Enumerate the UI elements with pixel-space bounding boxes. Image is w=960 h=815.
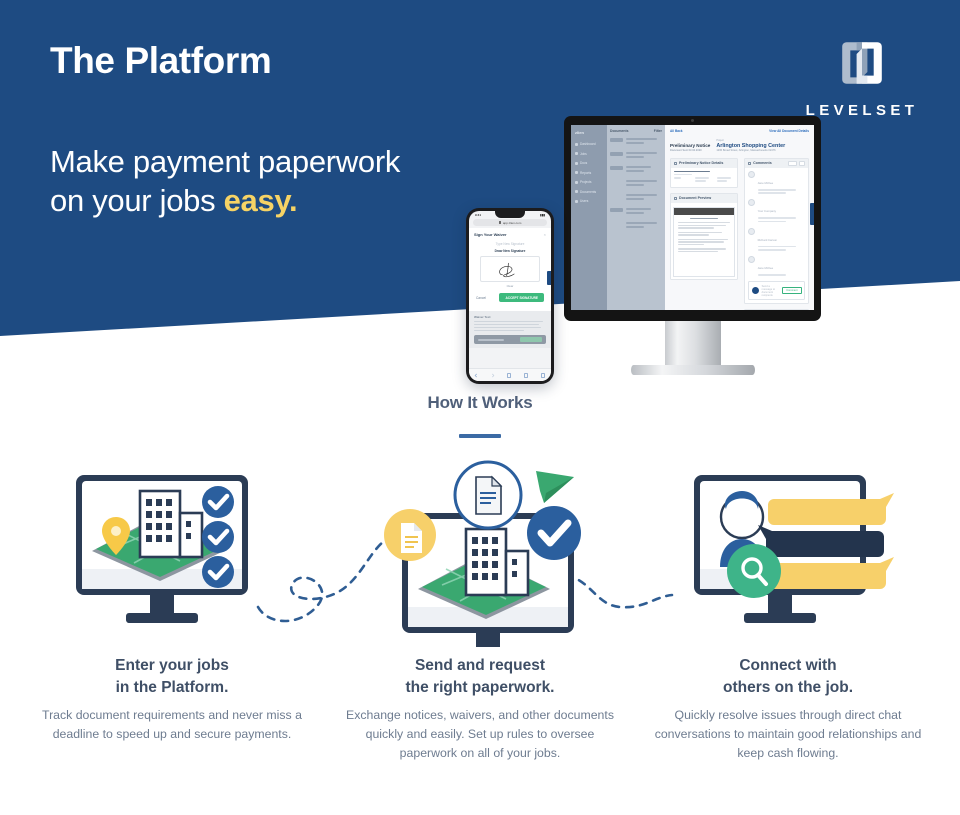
browser-toolbar (469, 368, 551, 381)
list-item[interactable] (610, 166, 662, 173)
check-icon (202, 521, 234, 553)
jobs-icon (575, 152, 578, 155)
filter-button[interactable] (788, 161, 797, 166)
signature-sheet: Sign Your Waiver × Type New Signature Dr… (469, 228, 551, 311)
share-icon[interactable] (507, 373, 511, 378)
step-heading-line1: Send and request (415, 657, 545, 674)
list-header-left: Documents (610, 129, 628, 133)
comment-body-line (758, 246, 796, 248)
step-body: Exchange notices, waivers, and other doc… (330, 706, 630, 763)
comment-input-row[interactable]: Send a message to document recipients Co… (748, 281, 805, 300)
sidebar-item-label: Jobs (580, 152, 587, 156)
preview-line (678, 241, 724, 242)
detail-line (674, 171, 710, 173)
status-badge (610, 138, 623, 142)
comment-author: Richard Carson (758, 238, 777, 242)
illustration-send-request (368, 455, 608, 650)
document-header: Preliminary Notice Document Sent 03.04.2… (670, 139, 809, 152)
status-badge (610, 166, 623, 170)
sidebar-item-label: Projects (580, 180, 592, 184)
document-preview-card: Document Preview (670, 193, 738, 280)
comment-author: Your Company (758, 209, 776, 213)
detail-keyvalue (674, 177, 734, 183)
device-mockups: zlien Dashboard Jobs Docs (452, 108, 852, 398)
main-panels: Preliminary Notice Details (670, 158, 809, 311)
card-title: Preliminary Notice Details (679, 161, 723, 165)
sidebar-item-dashboard[interactable]: Dashboard (575, 142, 603, 146)
accept-signature-button[interactable]: ACCEPT SIGNATURE (499, 293, 544, 302)
comment-body-line (758, 274, 786, 276)
status-badge (610, 194, 623, 198)
sidebar-item-label: Reports (580, 171, 591, 175)
status-badge (610, 152, 623, 156)
waiver-text-block: Waiver Text (469, 311, 551, 348)
hero-subtitle-line2: on your jobs (50, 183, 224, 218)
step-heading-line2: in the Platform. (116, 679, 229, 696)
waiver-footer-button[interactable] (520, 337, 542, 342)
check-icon (202, 556, 234, 588)
status-icons: ▮▮▮ (540, 213, 545, 217)
card-header: Comments (745, 159, 808, 169)
how-it-works-section: How It Works (0, 393, 960, 438)
sidebar-item-reports[interactable]: Reports (575, 171, 603, 175)
left-column: Preliminary Notice Details (670, 158, 738, 311)
card-title: Comments (753, 161, 772, 165)
sidebar-item-documents[interactable]: Documents (575, 190, 603, 194)
comment-entry: Richard Carson (748, 228, 805, 252)
step-heading-line2: others on the job. (723, 679, 853, 696)
desktop-monitor-mockup: zlien Dashboard Jobs Docs (564, 116, 821, 321)
preview-header-bar (674, 208, 734, 215)
brand-wordmark: LEVELSET (802, 102, 922, 119)
view-details-link[interactable]: View All Document Details (769, 129, 809, 133)
status-time: 9:41 (475, 213, 481, 217)
waiver-line (474, 330, 524, 331)
main-topbar: All Back View All Document Details (670, 129, 809, 133)
list-header-right[interactable]: Filter (654, 129, 662, 133)
comment-input[interactable]: Send a message to document recipients (762, 285, 780, 297)
step-body: Quickly resolve issues through direct ch… (638, 706, 938, 763)
list-item[interactable] (610, 138, 662, 145)
sidebar-item-users[interactable]: Users (575, 199, 603, 203)
back-icon[interactable] (475, 373, 479, 377)
cancel-button[interactable]: Cancel (476, 296, 486, 300)
lock-icon (499, 221, 501, 224)
card-body (671, 168, 737, 187)
comment-entry: Jane McKee (748, 171, 805, 195)
monitor-documents-send-icon (368, 455, 608, 650)
waiver-footer-label (478, 339, 504, 341)
close-icon[interactable]: × (544, 232, 546, 237)
check-icon (202, 486, 234, 518)
monitor-bezel: zlien Dashboard Jobs Docs (564, 116, 821, 321)
steps-section: Enter your jobs in the Platform. Track d… (0, 455, 960, 795)
monitor-screen: zlien Dashboard Jobs Docs (571, 125, 814, 310)
signature-canvas[interactable] (480, 256, 540, 282)
detail-value (717, 177, 731, 179)
app-sidebar: zlien Dashboard Jobs Docs (571, 125, 607, 310)
status-badge (610, 180, 623, 184)
preview-line (678, 225, 726, 226)
comment-author: Jane McKee (758, 181, 774, 185)
docs-icon (575, 162, 578, 165)
search-icon (727, 544, 781, 598)
tab-draw-signature[interactable]: Draw New Signature (474, 249, 546, 253)
preview-line (678, 234, 709, 235)
comment-body-line (758, 221, 786, 223)
step-heading: Connect with others on the job. (638, 655, 938, 700)
illustration-connect (676, 455, 916, 650)
right-column: Comments (744, 158, 809, 311)
comment-body-line (758, 217, 796, 219)
monitor-chat-person-icon (676, 455, 916, 650)
project-address: 1295 Broad Street, Arlington, Massachuse… (716, 149, 785, 152)
detail-value (695, 177, 709, 179)
comment-body-line (758, 192, 786, 194)
list-item[interactable] (610, 152, 662, 159)
avatar (748, 171, 755, 178)
sidebar-item-docs[interactable]: Docs (575, 161, 603, 165)
users-icon (575, 200, 578, 203)
comments-card: Comments (744, 158, 809, 305)
back-link[interactable]: All Back (670, 129, 683, 133)
expand-button[interactable] (799, 161, 805, 166)
document-type-label: Preliminary Notice (670, 143, 710, 148)
marketing-slide: The Platform Make payment paperwork on y… (0, 0, 960, 815)
title-underline (459, 434, 501, 438)
comment-body-line (758, 249, 786, 251)
list-item[interactable] (610, 208, 662, 215)
preview-line (678, 232, 722, 233)
document-badge-icon (384, 509, 436, 561)
phone-screen: 9:41 ▮▮▮ app.zlien.com Sign Your Waiver … (469, 211, 551, 381)
projects-icon (575, 181, 578, 184)
step-body: Track document requirements and never mi… (22, 706, 322, 744)
phone-body: 9:41 ▮▮▮ app.zlien.com Sign Your Waiver … (466, 208, 554, 384)
document-outline-icon (455, 462, 521, 528)
levelset-logo-mark-icon (835, 36, 889, 90)
comment-author: Jane McKee (758, 266, 774, 270)
hero-subtitle-accent: easy. (224, 183, 298, 218)
recipients-card: Recipients Add Recipient Property Owner … (744, 309, 809, 310)
sidebar-item-label: Docs (580, 161, 587, 165)
step-card-send-request: Send and request the right paperwork. Ex… (330, 655, 630, 763)
card-header: Document Preview (671, 194, 737, 203)
step-heading-line2: the right paperwork. (406, 679, 555, 696)
url-text: app.zlien.com (503, 221, 522, 225)
browser-url-bar[interactable]: app.zlien.com (473, 219, 547, 226)
waiver-line (474, 321, 543, 322)
app-document-list: Documents Filter (607, 125, 665, 310)
project-block: Project Arlington Shopping Center 1295 B… (716, 139, 785, 152)
sidebar-item-label: Users (580, 199, 588, 203)
comment-entry: Your Company (748, 199, 805, 223)
monitor-base (631, 365, 755, 375)
waiver-line (474, 324, 539, 325)
notice-details-card: Preliminary Notice Details (670, 158, 738, 188)
preview-line (690, 218, 719, 220)
avatar (748, 199, 755, 206)
preview-line (678, 222, 730, 223)
monitor-map-checkmarks-icon (60, 455, 300, 650)
sheet-title: Sign Your Waiver (474, 232, 507, 237)
hero-subtitle: Make payment paperwork on your jobs easy… (50, 143, 400, 221)
list-item[interactable] (610, 180, 662, 187)
page-title: The Platform (50, 40, 271, 82)
monitor-stand (665, 321, 721, 369)
tabs-icon[interactable] (541, 373, 545, 378)
preview-line (678, 251, 718, 252)
card-title: Document Preview (679, 196, 711, 200)
comment-entry: Jane McKee (748, 256, 805, 277)
detail-value (717, 180, 727, 182)
sheet-header: Sign Your Waiver × (474, 232, 546, 237)
clear-signature-button[interactable]: Clear (474, 284, 546, 288)
reports-icon (575, 171, 578, 174)
step-heading: Send and request the right paperwork. (330, 655, 630, 700)
step-heading-line1: Connect with (739, 657, 836, 674)
documents-icon (575, 190, 578, 193)
sidebar-item-jobs[interactable]: Jobs (575, 152, 603, 156)
list-item[interactable] (610, 194, 662, 201)
waiver-footer-bar[interactable] (474, 335, 546, 344)
document-preview-pane[interactable] (673, 207, 735, 277)
document-sent-date: Document Sent 03.04.2020 (670, 149, 710, 152)
feedback-tab[interactable] (810, 203, 814, 225)
detail-key (674, 177, 681, 179)
preview-line (678, 239, 728, 240)
detail-line (674, 174, 692, 176)
comment-body-line (758, 189, 796, 191)
preview-icon (674, 197, 677, 200)
step-card-connect: Connect with others on the job. Quickly … (638, 655, 938, 763)
signature-actions: Cancel ACCEPT SIGNATURE (474, 293, 546, 307)
card-header: Preliminary Notice Details (671, 159, 737, 168)
preview-line (678, 244, 704, 245)
waiver-line (474, 327, 541, 328)
waiver-text-title: Waiver Text (474, 315, 546, 319)
brand-logo: LEVELSET (802, 36, 922, 119)
document-list-header: Documents Filter (610, 129, 662, 133)
forward-icon[interactable] (491, 373, 495, 377)
project-name-text: Arlington Shopping Center (716, 143, 785, 149)
step-heading: Enter your jobs in the Platform. (22, 655, 322, 700)
status-badge (610, 208, 623, 212)
sidebar-item-projects[interactable]: Projects (575, 180, 603, 184)
bookmarks-icon[interactable] (524, 373, 528, 378)
status-badge (610, 222, 623, 226)
check-icon (527, 506, 581, 560)
sidebar-item-label: Dashboard (580, 142, 596, 146)
app-main-panel: All Back View All Document Details Preli… (665, 125, 814, 310)
document-icon (674, 162, 677, 165)
avatar (748, 228, 755, 235)
preview-line (678, 227, 714, 228)
send-paper-plane-icon (536, 471, 574, 503)
step-heading-line1: Enter your jobs (115, 657, 229, 674)
avatar (752, 287, 759, 294)
step-card-enter-jobs: Enter your jobs in the Platform. Track d… (22, 655, 322, 744)
hero-subtitle-line1: Make payment paperwork (50, 144, 400, 179)
phone-notch (495, 211, 525, 218)
dashboard-icon (575, 143, 578, 146)
project-name: Arlington Shopping Center 1295 Broad Str… (716, 143, 785, 152)
document-type: Preliminary Notice Document Sent 03.04.2… (670, 143, 710, 152)
tab-type-signature[interactable]: Type New Signature (474, 242, 546, 246)
comment-icon (748, 162, 751, 165)
sidebar-item-label: Documents (580, 190, 596, 194)
phone-mockup: 9:41 ▮▮▮ app.zlien.com Sign Your Waiver … (466, 208, 554, 384)
phone-feedback-tab[interactable] (547, 271, 551, 285)
detail-value (695, 180, 705, 182)
avatar (748, 256, 755, 263)
illustration-enter-jobs (60, 455, 300, 650)
signature-stroke-icon (481, 257, 539, 281)
preview-line (678, 248, 726, 249)
list-item[interactable] (610, 222, 662, 229)
app-sidebar-logo: zlien (575, 130, 603, 135)
comment-submit-button[interactable]: Comment (782, 287, 801, 294)
